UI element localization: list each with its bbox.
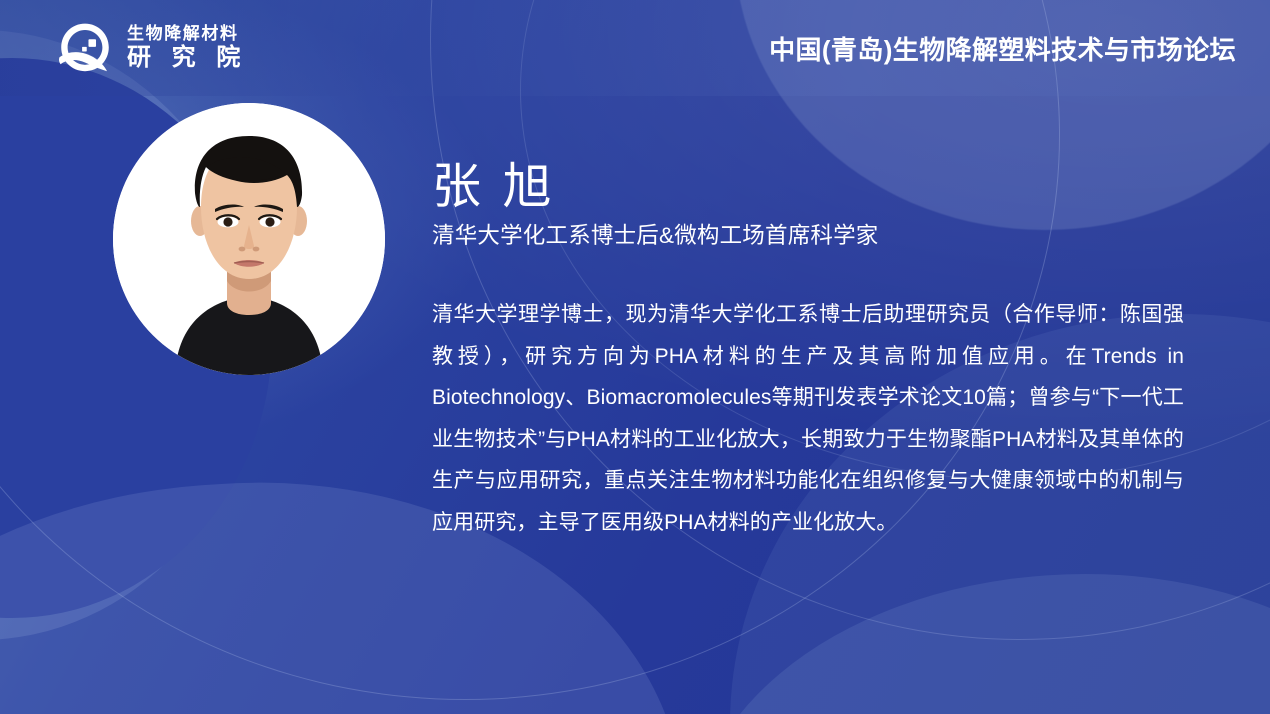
brand-line-1: 生物降解材料	[127, 25, 247, 43]
forum-title: 中国(青岛)生物降解塑料技术与市场论坛	[769, 30, 1236, 67]
presentation-slide: 生物降解材料 研 究 院 中国(青岛)生物降解塑料技术与市场论坛	[0, 0, 1270, 714]
speaker-portrait	[113, 103, 385, 375]
speaker-role: 清华大学化工系博士后&微构工场首席科学家	[432, 221, 1202, 250]
speaker-info: 张 旭 清华大学化工系博士后&微构工场首席科学家 清华大学理学博士，现为清华大学…	[432, 160, 1202, 543]
brand-lockup: 生物降解材料 研 究 院	[56, 19, 247, 77]
slide-header: 生物降解材料 研 究 院 中国(青岛)生物降解塑料技术与市场论坛	[0, 0, 1270, 96]
institute-logo-icon	[56, 19, 114, 77]
speaker-biography: 清华大学理学博士，现为清华大学化工系博士后助理研究员（合作导师：陈国强教授），研…	[432, 294, 1184, 543]
brand-text: 生物降解材料 研 究 院	[127, 25, 247, 70]
speaker-photo-illustration	[113, 103, 385, 375]
speaker-name: 张 旭	[432, 160, 1202, 215]
brand-line-2: 研 究 院	[127, 45, 247, 70]
